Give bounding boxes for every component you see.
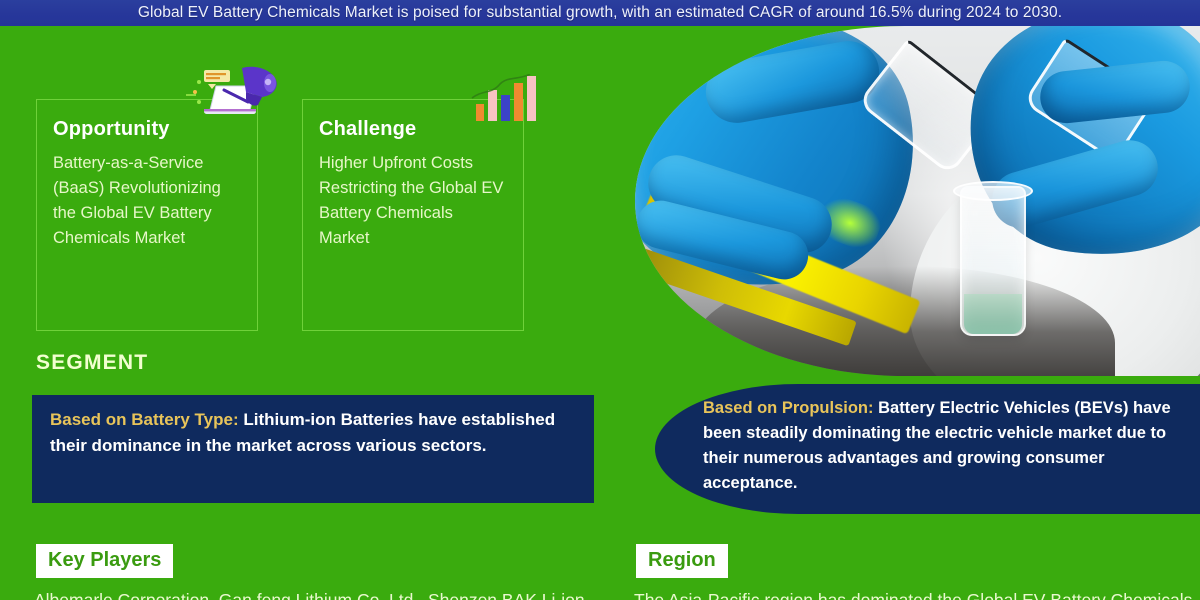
vial-rim xyxy=(953,181,1033,201)
vial-liquid xyxy=(964,294,1022,334)
segment-battery-type-text: Based on Battery Type: Lithium-ion Batte… xyxy=(50,407,576,459)
challenge-card: Challenge Higher Upfront Costs Restricti… xyxy=(302,99,524,331)
challenge-card-body: Higher Upfront Costs Restricting the Glo… xyxy=(319,151,507,251)
opportunity-card-title: Opportunity xyxy=(53,118,241,141)
key-players-badge: Key Players xyxy=(36,544,173,578)
opportunity-card-body: Battery-as-a-Service (BaaS) Revolutioniz… xyxy=(53,151,241,251)
laboratory-beakers-photo xyxy=(635,26,1200,376)
region-badge: Region xyxy=(636,544,728,578)
segment-propulsion-text: Based on Propulsion: Battery Electric Ve… xyxy=(703,396,1195,496)
megaphone-laptop-icon xyxy=(186,62,282,116)
opportunity-card: Opportunity Battery-as-a-Service (BaaS) … xyxy=(36,99,258,331)
banner-headline: Global EV Battery Chemicals Market is po… xyxy=(138,4,1062,22)
segment-battery-type-label: Based on Battery Type: xyxy=(50,410,239,429)
segment-heading: SEGMENT xyxy=(36,351,148,375)
bar-chart-icon xyxy=(470,74,540,122)
segment-propulsion-box: Based on Propulsion: Battery Electric Ve… xyxy=(655,384,1200,514)
top-banner: Global EV Battery Chemicals Market is po… xyxy=(0,0,1200,26)
segment-battery-type-box: Based on Battery Type: Lithium-ion Batte… xyxy=(32,395,594,503)
segment-propulsion-label: Based on Propulsion: xyxy=(703,399,874,417)
photo-background xyxy=(635,26,1200,376)
region-text: The Asia-Pacific region has dominated th… xyxy=(634,586,1194,600)
key-players-text: Albemarle Corporation, Gan feng Lithium … xyxy=(34,586,614,600)
infographic-canvas: Opportunity Battery-as-a-Service (BaaS) … xyxy=(0,26,1200,600)
